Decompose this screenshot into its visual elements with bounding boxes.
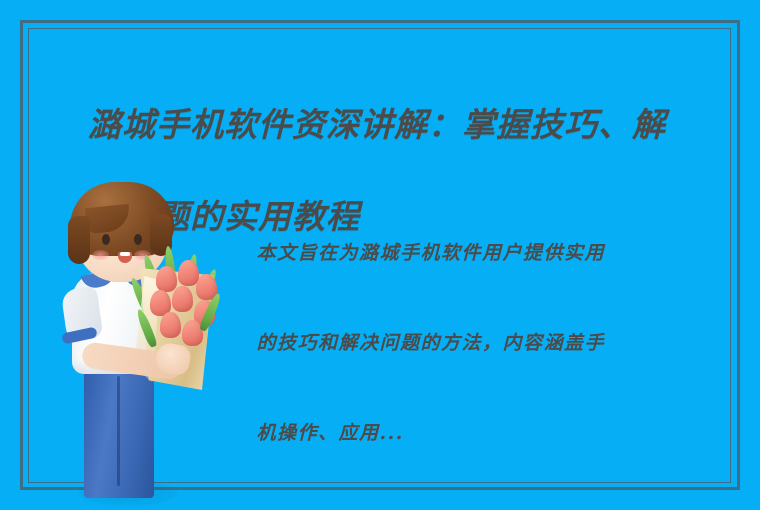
eye-left xyxy=(102,234,110,245)
article-summary-line-1: 本文旨在为潞城手机软件用户提供实用 xyxy=(256,242,605,264)
hair-side-left xyxy=(68,216,90,264)
eye-right xyxy=(134,234,142,245)
tulip-bloom xyxy=(160,312,181,338)
boy-holding-bouquet-illustration xyxy=(30,180,225,510)
article-summary: 本文旨在为潞城手机软件用户提供实用 的技巧和解决问题的方法，内容涵盖手 机操作、… xyxy=(224,186,724,501)
article-summary-line-2: 的技巧和解决问题的方法，内容涵盖手 xyxy=(256,332,605,354)
tulip-bloom xyxy=(156,266,177,292)
poster-canvas: 潞城手机软件资深讲解：掌握技巧、解 决问题的实用教程 本文旨在为潞城手机软件用户… xyxy=(0,0,760,510)
blush-left xyxy=(92,250,109,260)
page-title-line-1: 潞城手机软件资深讲解：掌握技巧、解 xyxy=(88,105,666,144)
tulip-bloom xyxy=(172,286,193,312)
article-summary-line-3: 机操作、应用... xyxy=(256,422,403,444)
trousers xyxy=(84,358,154,498)
